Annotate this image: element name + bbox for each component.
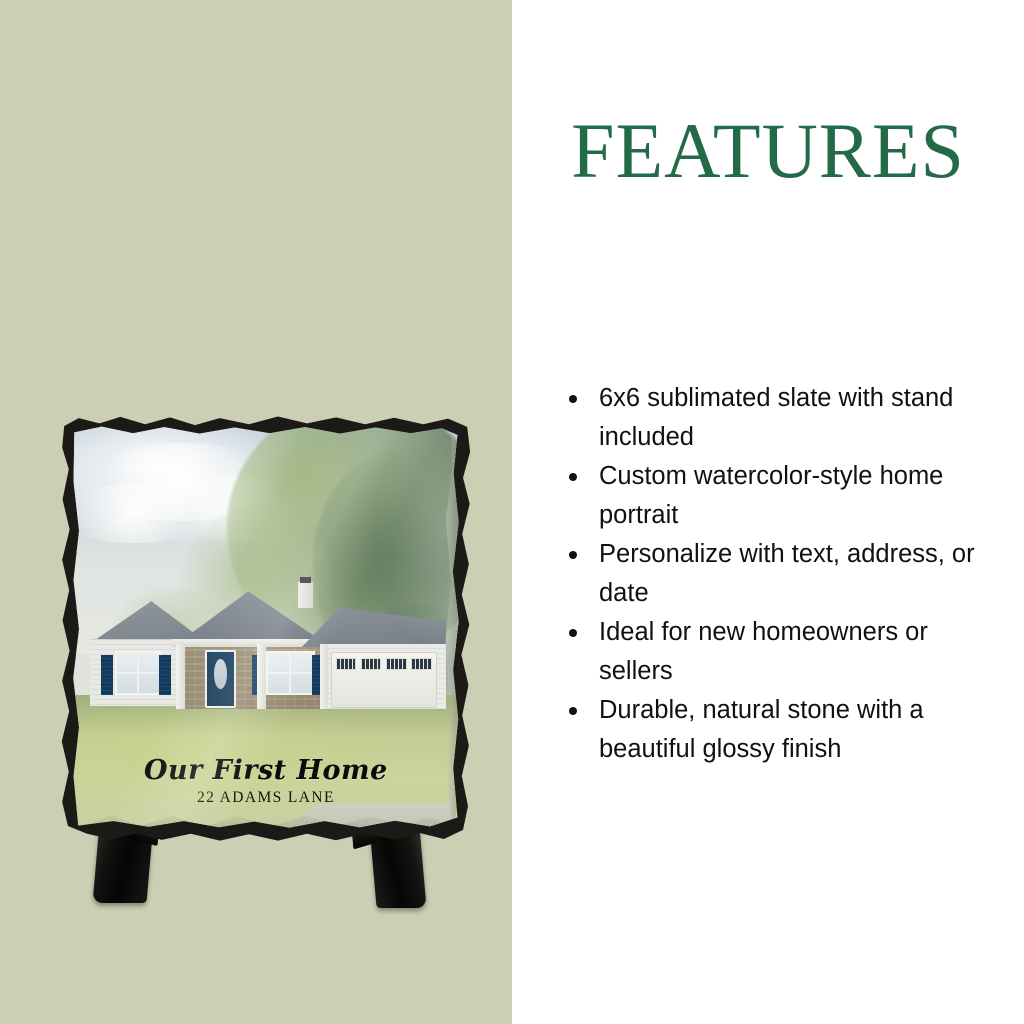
personalization-address-line: 22 ADAMS LANE <box>70 789 461 807</box>
personalization-text: Our First Home 22 ADAMS LANE <box>70 757 461 807</box>
bullet-icon <box>569 707 577 715</box>
window-shutter <box>159 655 171 694</box>
feature-list-item: Custom watercolor-style home portrait <box>557 457 1007 535</box>
garage-window-pane <box>336 658 356 670</box>
feature-text: Ideal for new homeowners or sellers <box>599 618 928 685</box>
feature-list-item: Durable, natural stone with a beautiful … <box>557 691 1007 769</box>
product-figure: Our First Home 22 ADAMS LANE <box>40 405 480 915</box>
garage-door <box>331 652 437 708</box>
front-window <box>266 651 315 694</box>
product-image-panel: Our First Home 22 ADAMS LANE <box>0 0 512 1024</box>
cloud-shape <box>70 484 211 544</box>
house-illustration <box>86 555 446 719</box>
front-window <box>115 651 162 694</box>
product-marketing-page: Our First Home 22 ADAMS LANE FEATURES 6x… <box>0 0 1024 1024</box>
bullet-icon <box>569 395 577 403</box>
porch-column <box>176 644 185 710</box>
features-list: 6x6 sublimated slate with stand included… <box>557 379 1007 769</box>
feature-text: Durable, natural stone with a beautiful … <box>599 696 924 763</box>
window-shutter <box>101 655 113 694</box>
personalization-script-line: Our First Home <box>70 757 461 784</box>
porch-column <box>257 644 266 710</box>
garage-window-pane <box>411 658 431 670</box>
chimney-cap <box>300 577 312 583</box>
feature-list-item: Ideal for new homeowners or sellers <box>557 613 1007 691</box>
slate-plaque: Our First Home 22 ADAMS LANE <box>58 413 473 845</box>
garage-door-windows <box>336 658 432 670</box>
porch-column <box>320 644 329 710</box>
bullet-icon <box>569 473 577 481</box>
features-heading: FEATURES <box>512 112 1024 190</box>
feature-list-item: 6x6 sublimated slate with stand included <box>557 379 1007 457</box>
garage-roof <box>302 608 446 647</box>
slate-printed-face: Our First Home 22 ADAMS LANE <box>70 424 461 834</box>
feature-list-item: Personalize with text, address, or date <box>557 535 1007 613</box>
feature-text: Custom watercolor-style home portrait <box>599 462 943 529</box>
features-panel: FEATURES 6x6 sublimated slate with stand… <box>512 0 1024 1024</box>
feature-text: Personalize with text, address, or date <box>599 540 975 607</box>
bullet-icon <box>569 551 577 559</box>
feature-text: 6x6 sublimated slate with stand included <box>599 384 953 451</box>
bullet-icon <box>569 629 577 637</box>
garage-window-pane <box>361 658 381 670</box>
chimney <box>298 582 312 608</box>
garage-window-pane <box>386 658 406 670</box>
front-door <box>205 650 236 708</box>
door-oval-glass <box>214 659 227 689</box>
